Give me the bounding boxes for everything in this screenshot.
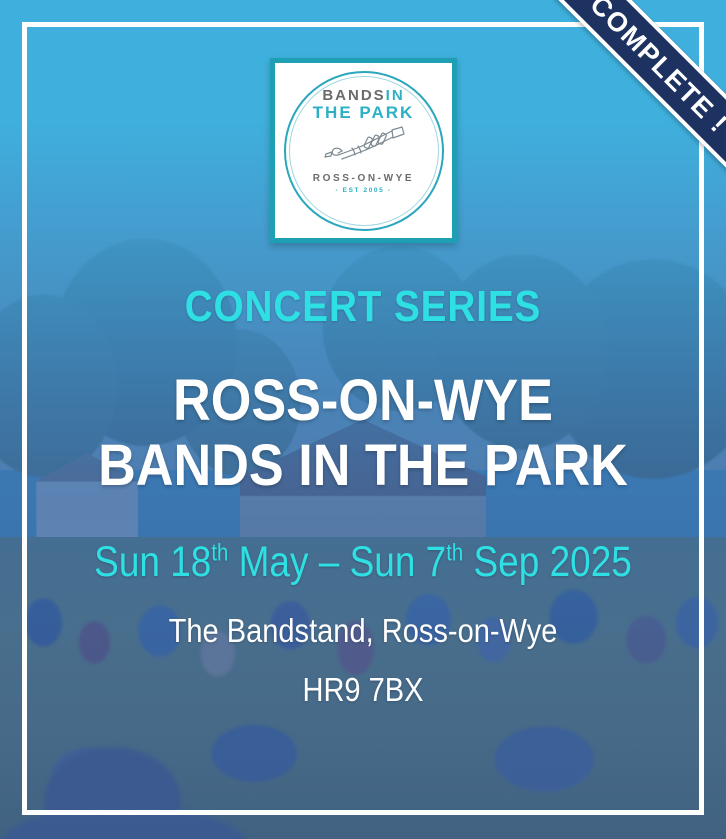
title-line-1: ROSS-ON-WYE (173, 368, 553, 433)
date-separator: – (319, 538, 340, 586)
logo-word-bands: BANDS (322, 87, 385, 104)
date-start-day: Sun 18 (94, 538, 211, 586)
title-line-2: BANDS IN THE PARK (72, 436, 653, 495)
logo-line-1: BANDSIN (322, 88, 404, 104)
status-badge: COMPLETE ! (584, 0, 726, 139)
status-ribbon-band: COMPLETE ! (524, 0, 726, 199)
date-end-day: Sun 7 (339, 538, 446, 586)
logo-line-2: THE PARK (313, 104, 415, 123)
event-dates: Sun 18th May – Sun 7th Sep 2025 (85, 541, 641, 584)
logo-word-in: IN (386, 87, 405, 104)
logo-line-4: - EST 2005 - (335, 187, 391, 194)
page-title: ROSS-ON-WYE BANDS IN THE PARK (72, 371, 653, 495)
poster-content: CONCERT SERIES ROSS-ON-WYE BANDS IN THE … (0, 285, 726, 706)
status-ribbon: COMPLETE ! (466, 0, 726, 260)
date-start-month: May (228, 538, 318, 586)
logo-line-3: ROSS-ON-WYE (313, 173, 414, 184)
date-end-ordinal: th (446, 541, 463, 567)
poster-kicker: CONCERT SERIES (79, 285, 647, 329)
venue-postcode: HR9 7BX (79, 673, 647, 706)
logo-card: BANDSIN THE PARK (270, 58, 457, 243)
logo-circle: BANDSIN THE PARK (284, 71, 444, 231)
trumpet-icon (322, 126, 406, 171)
date-end-month-year: Sep 2025 (463, 538, 632, 586)
venue-name: The Bandstand, Ross-on-Wye (79, 614, 647, 647)
date-start-ordinal: th (211, 541, 228, 567)
event-poster: COMPLETE ! BANDSIN THE PARK (0, 0, 726, 839)
